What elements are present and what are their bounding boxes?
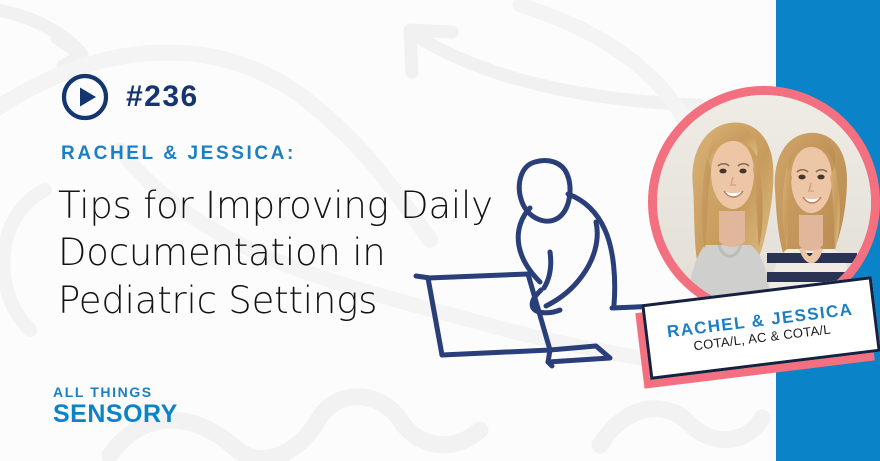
- wave-squiggle-bottom-2: [600, 409, 762, 445]
- arc-left: [3, 190, 45, 330]
- brand-logo: ALL THINGS SENSORY: [53, 385, 178, 427]
- guest-name-subtitle: RACHEL & JESSICA:: [61, 144, 296, 163]
- photo-inner: [657, 95, 871, 309]
- episode-row: #236: [60, 72, 199, 122]
- guest-headshot-photo: [657, 95, 871, 309]
- person-typing-on-laptop-illustration: [400, 150, 670, 385]
- episode-number: #236: [126, 82, 199, 112]
- brand-logo-top: ALL THINGS: [53, 385, 178, 399]
- curved-arrow-down-left-icon: [0, 8, 80, 52]
- curved-arrow-up-left-head: [410, 30, 452, 72]
- play-circle-icon[interactable]: [60, 72, 110, 122]
- podcast-episode-banner: #236 RACHEL & JESSICA: Tips for Improvin…: [0, 0, 880, 461]
- brand-logo-bottom: SENSORY: [53, 402, 178, 427]
- curved-arrow-down-left-head: [57, 38, 82, 66]
